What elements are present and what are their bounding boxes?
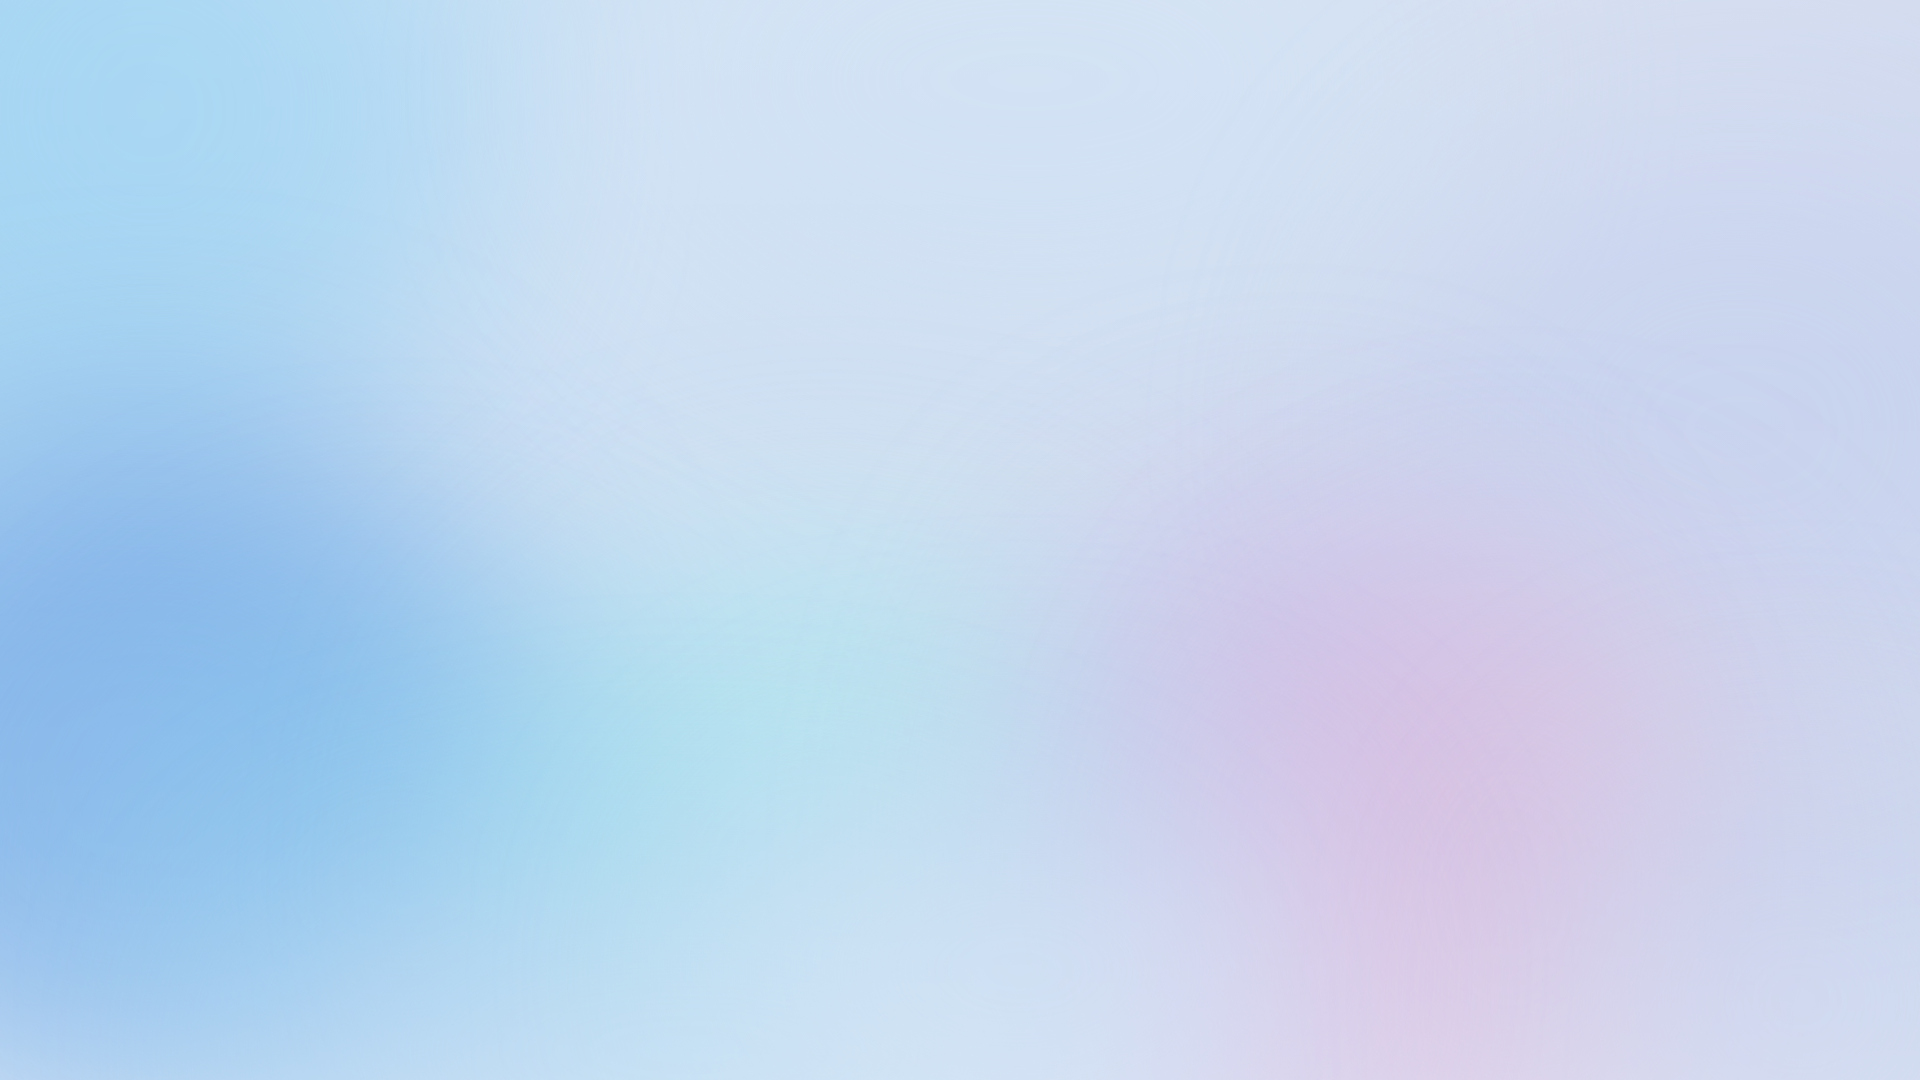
process-diagram xyxy=(0,0,1920,1080)
chevron-band xyxy=(88,366,1848,470)
